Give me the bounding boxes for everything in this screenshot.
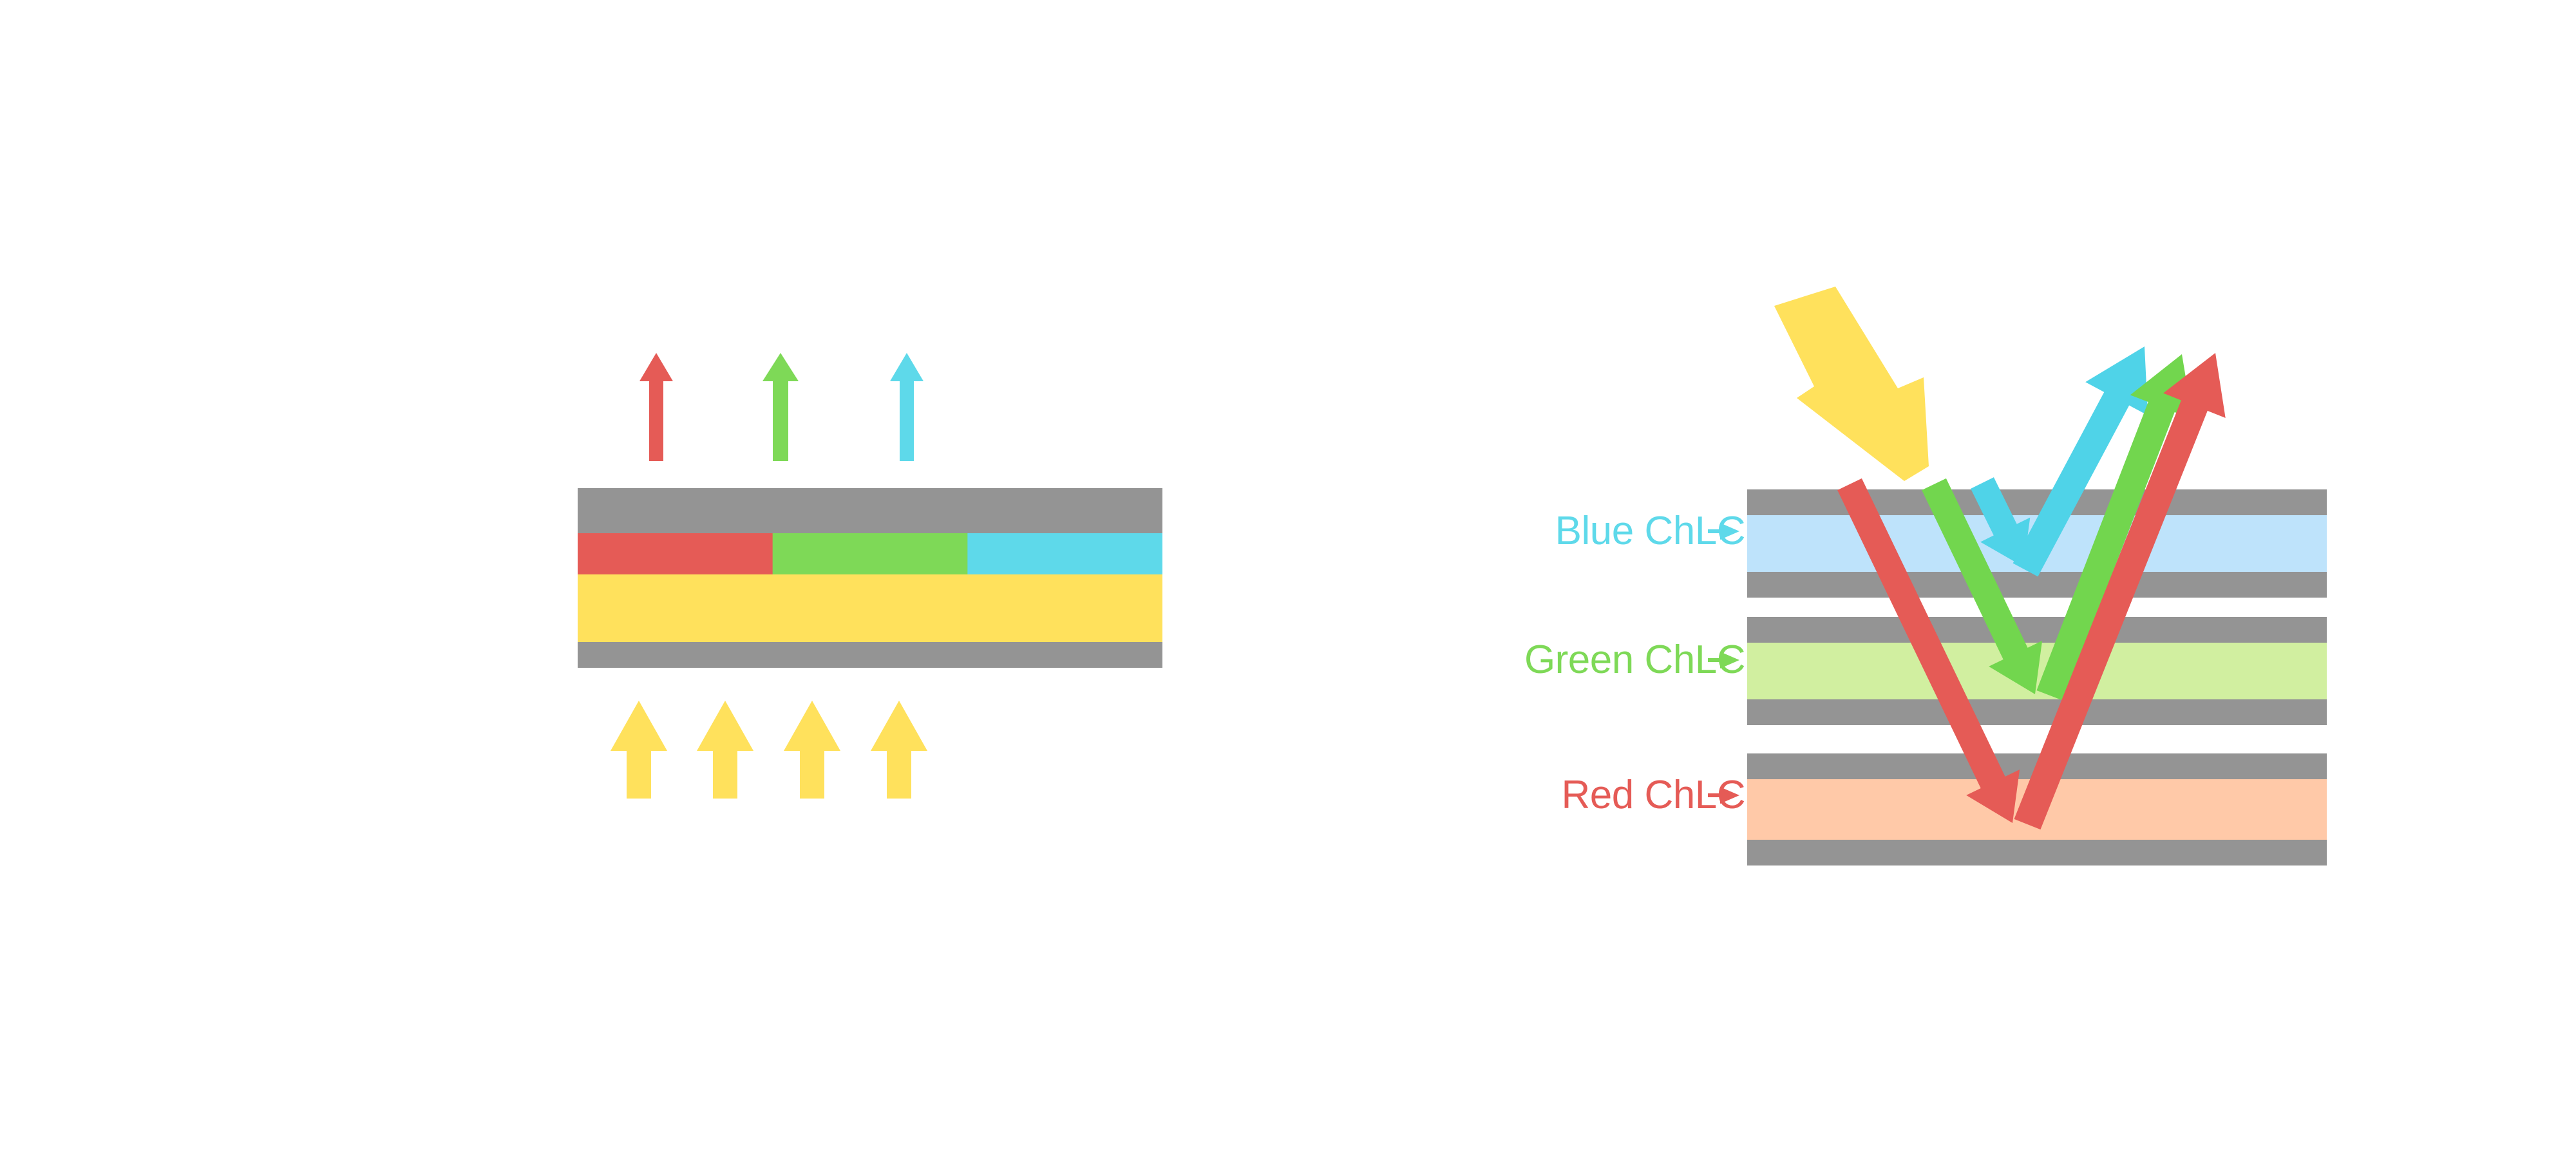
blue-filter <box>967 533 1162 574</box>
backlight-arrow-1 <box>611 701 667 799</box>
chlc-labels: Blue ChLC Green ChLC Red ChLC <box>1524 509 1745 817</box>
left-out-arrows <box>639 353 923 461</box>
backlight-arrow-3 <box>784 701 840 799</box>
green-filter <box>773 533 969 574</box>
figure-canvas: Blue ChLC Green ChLC Red ChLC <box>0 0 2576 1154</box>
blue-cell-top-electrode <box>1747 489 2327 515</box>
green-out-arrow <box>762 353 799 461</box>
red-cell-bottom-electrode <box>1747 840 2327 865</box>
left-in-arrows <box>611 701 927 799</box>
reflective-chlc-stack-diagram: Blue ChLC Green ChLC Red ChLC <box>1524 287 2327 865</box>
green-cell-top-electrode <box>1747 617 2327 643</box>
blue-out-arrow <box>890 353 923 461</box>
emissive-stack-diagram <box>578 353 1162 799</box>
green-cell-bottom-electrode <box>1747 699 2327 725</box>
top-electrode <box>578 488 1162 533</box>
ambient-light-arrow <box>1774 287 1929 481</box>
left-stack <box>578 488 1162 668</box>
backlight-arrow-2 <box>697 701 753 799</box>
diagram-svg: Blue ChLC Green ChLC Red ChLC <box>0 0 2576 1154</box>
backlight-layer <box>578 574 1162 642</box>
backlight-arrow-4 <box>871 701 927 799</box>
bottom-electrode <box>578 642 1162 668</box>
red-filter <box>578 533 773 574</box>
red-out-arrow <box>639 353 673 461</box>
